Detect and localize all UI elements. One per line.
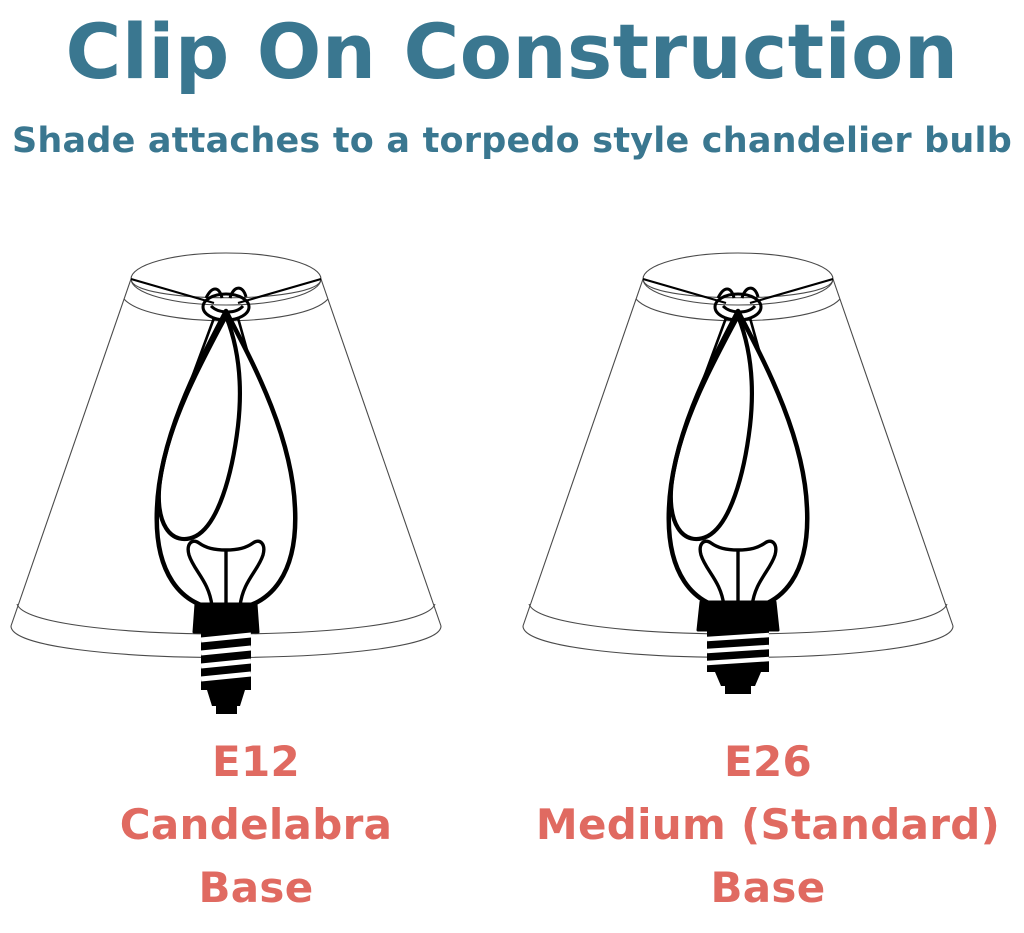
figure-e26-clip-on-shade bbox=[512, 236, 1024, 736]
shade-rim-wire bbox=[131, 279, 321, 303]
rim-wire-right bbox=[750, 279, 833, 303]
bulb-base-e26 bbox=[698, 602, 778, 694]
base-collar bbox=[194, 604, 258, 632]
caption-e12: E12 Candelabra Base bbox=[0, 730, 512, 919]
lamp-shade-e26-illustration bbox=[512, 236, 1024, 736]
caption-e26-code: E26 bbox=[512, 730, 1024, 793]
base-contact-tip bbox=[725, 684, 751, 694]
page-subtitle: Shade attaches to a torpedo style chande… bbox=[0, 98, 1024, 162]
rim-wire-right bbox=[238, 279, 321, 303]
caption-e12-line3: Base bbox=[0, 856, 512, 919]
figure-e12-clip-on-shade bbox=[0, 236, 512, 736]
base-collar bbox=[698, 602, 778, 630]
caption-e26: E26 Medium (Standard) Base bbox=[512, 730, 1024, 919]
caption-e12-line2: Candelabra bbox=[0, 793, 512, 856]
caption-e12-code: E12 bbox=[0, 730, 512, 793]
page-title: Clip On Construction bbox=[0, 0, 1024, 98]
captions-row: E12 Candelabra Base E26 Medium (Standard… bbox=[0, 730, 1024, 933]
base-contact-tip bbox=[216, 704, 237, 714]
caption-e26-line3: Base bbox=[512, 856, 1024, 919]
base-taper bbox=[715, 672, 761, 686]
rim-wire-left bbox=[643, 279, 726, 303]
bulb-base-e12 bbox=[194, 604, 258, 714]
shade-right-side bbox=[833, 279, 953, 626]
header: Clip On Construction Shade attaches to a… bbox=[0, 0, 1024, 162]
infographic-page: Clip On Construction Shade attaches to a… bbox=[0, 0, 1024, 933]
illustrations-row bbox=[0, 236, 1024, 736]
caption-e26-line2: Medium (Standard) bbox=[512, 793, 1024, 856]
shade-left-side bbox=[523, 279, 643, 626]
shade-right-side bbox=[321, 279, 441, 626]
lamp-shade-e12-illustration bbox=[0, 236, 512, 736]
base-taper bbox=[207, 690, 245, 706]
shade-rim-wire bbox=[643, 279, 833, 303]
rim-wire-left bbox=[131, 279, 214, 303]
shade-left-side bbox=[11, 279, 131, 626]
